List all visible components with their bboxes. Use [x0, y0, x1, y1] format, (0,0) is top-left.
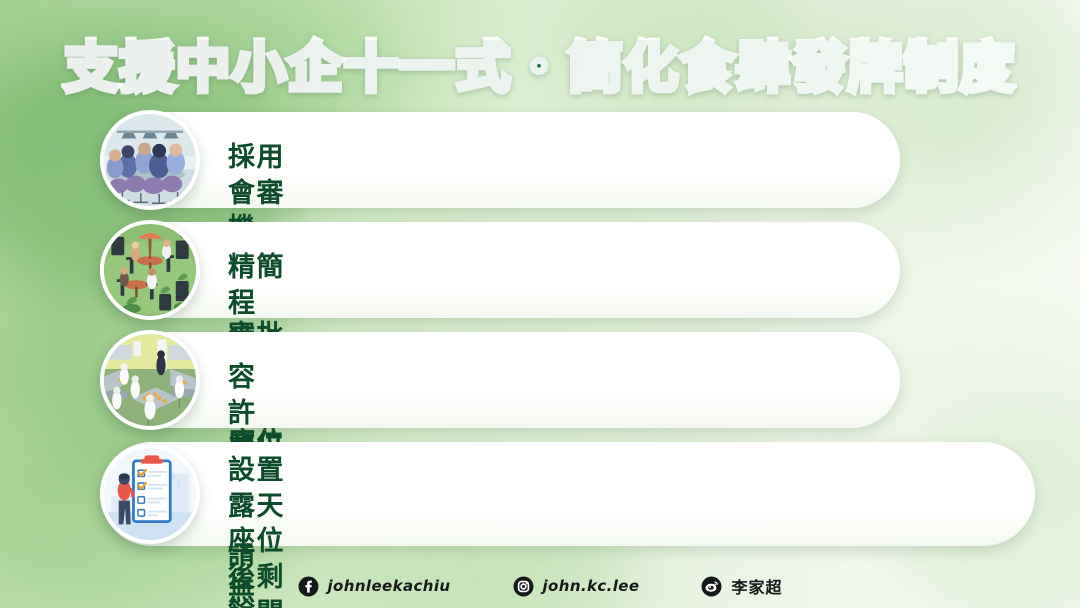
- weibo-icon: [701, 576, 722, 597]
- bullet-pill: [100, 222, 900, 318]
- svg-text:I: I: [178, 479, 180, 489]
- social-link-instagram[interactable]: john.kc.lee: [513, 576, 640, 597]
- outdoor-dining-icon: [100, 220, 200, 320]
- instagram-icon: [513, 576, 534, 597]
- checklist-clipboard-icon: RIZ SM: [100, 444, 200, 544]
- bullet-pill: [100, 112, 900, 208]
- page-title-wrap: 支援中小企十一式・簡化食肆發牌制度: [0, 40, 1080, 94]
- social-handle: 李家超: [731, 574, 782, 598]
- social-link-facebook[interactable]: johnleekachiu: [298, 576, 451, 597]
- social-handle: john.kc.lee: [543, 577, 640, 595]
- social-link-weibo[interactable]: 李家超: [701, 574, 782, 598]
- footer-social-bar: johnleekachiu john.kc.lee 李家超: [0, 574, 1080, 598]
- commercial-kitchen-icon: [100, 330, 200, 430]
- facebook-icon: [298, 576, 319, 597]
- bullet-pill: [100, 332, 900, 428]
- social-handle: johnleekachiu: [328, 577, 451, 595]
- meeting-room-icon: [100, 110, 200, 210]
- infographic-poster: 支援中小企十一式・簡化食肆發牌制度 採用會審機制，加快審批食肆露天座位申請: [0, 0, 1080, 608]
- page-title: 支援中小企十一式・簡化食肆發牌制度: [64, 40, 1016, 94]
